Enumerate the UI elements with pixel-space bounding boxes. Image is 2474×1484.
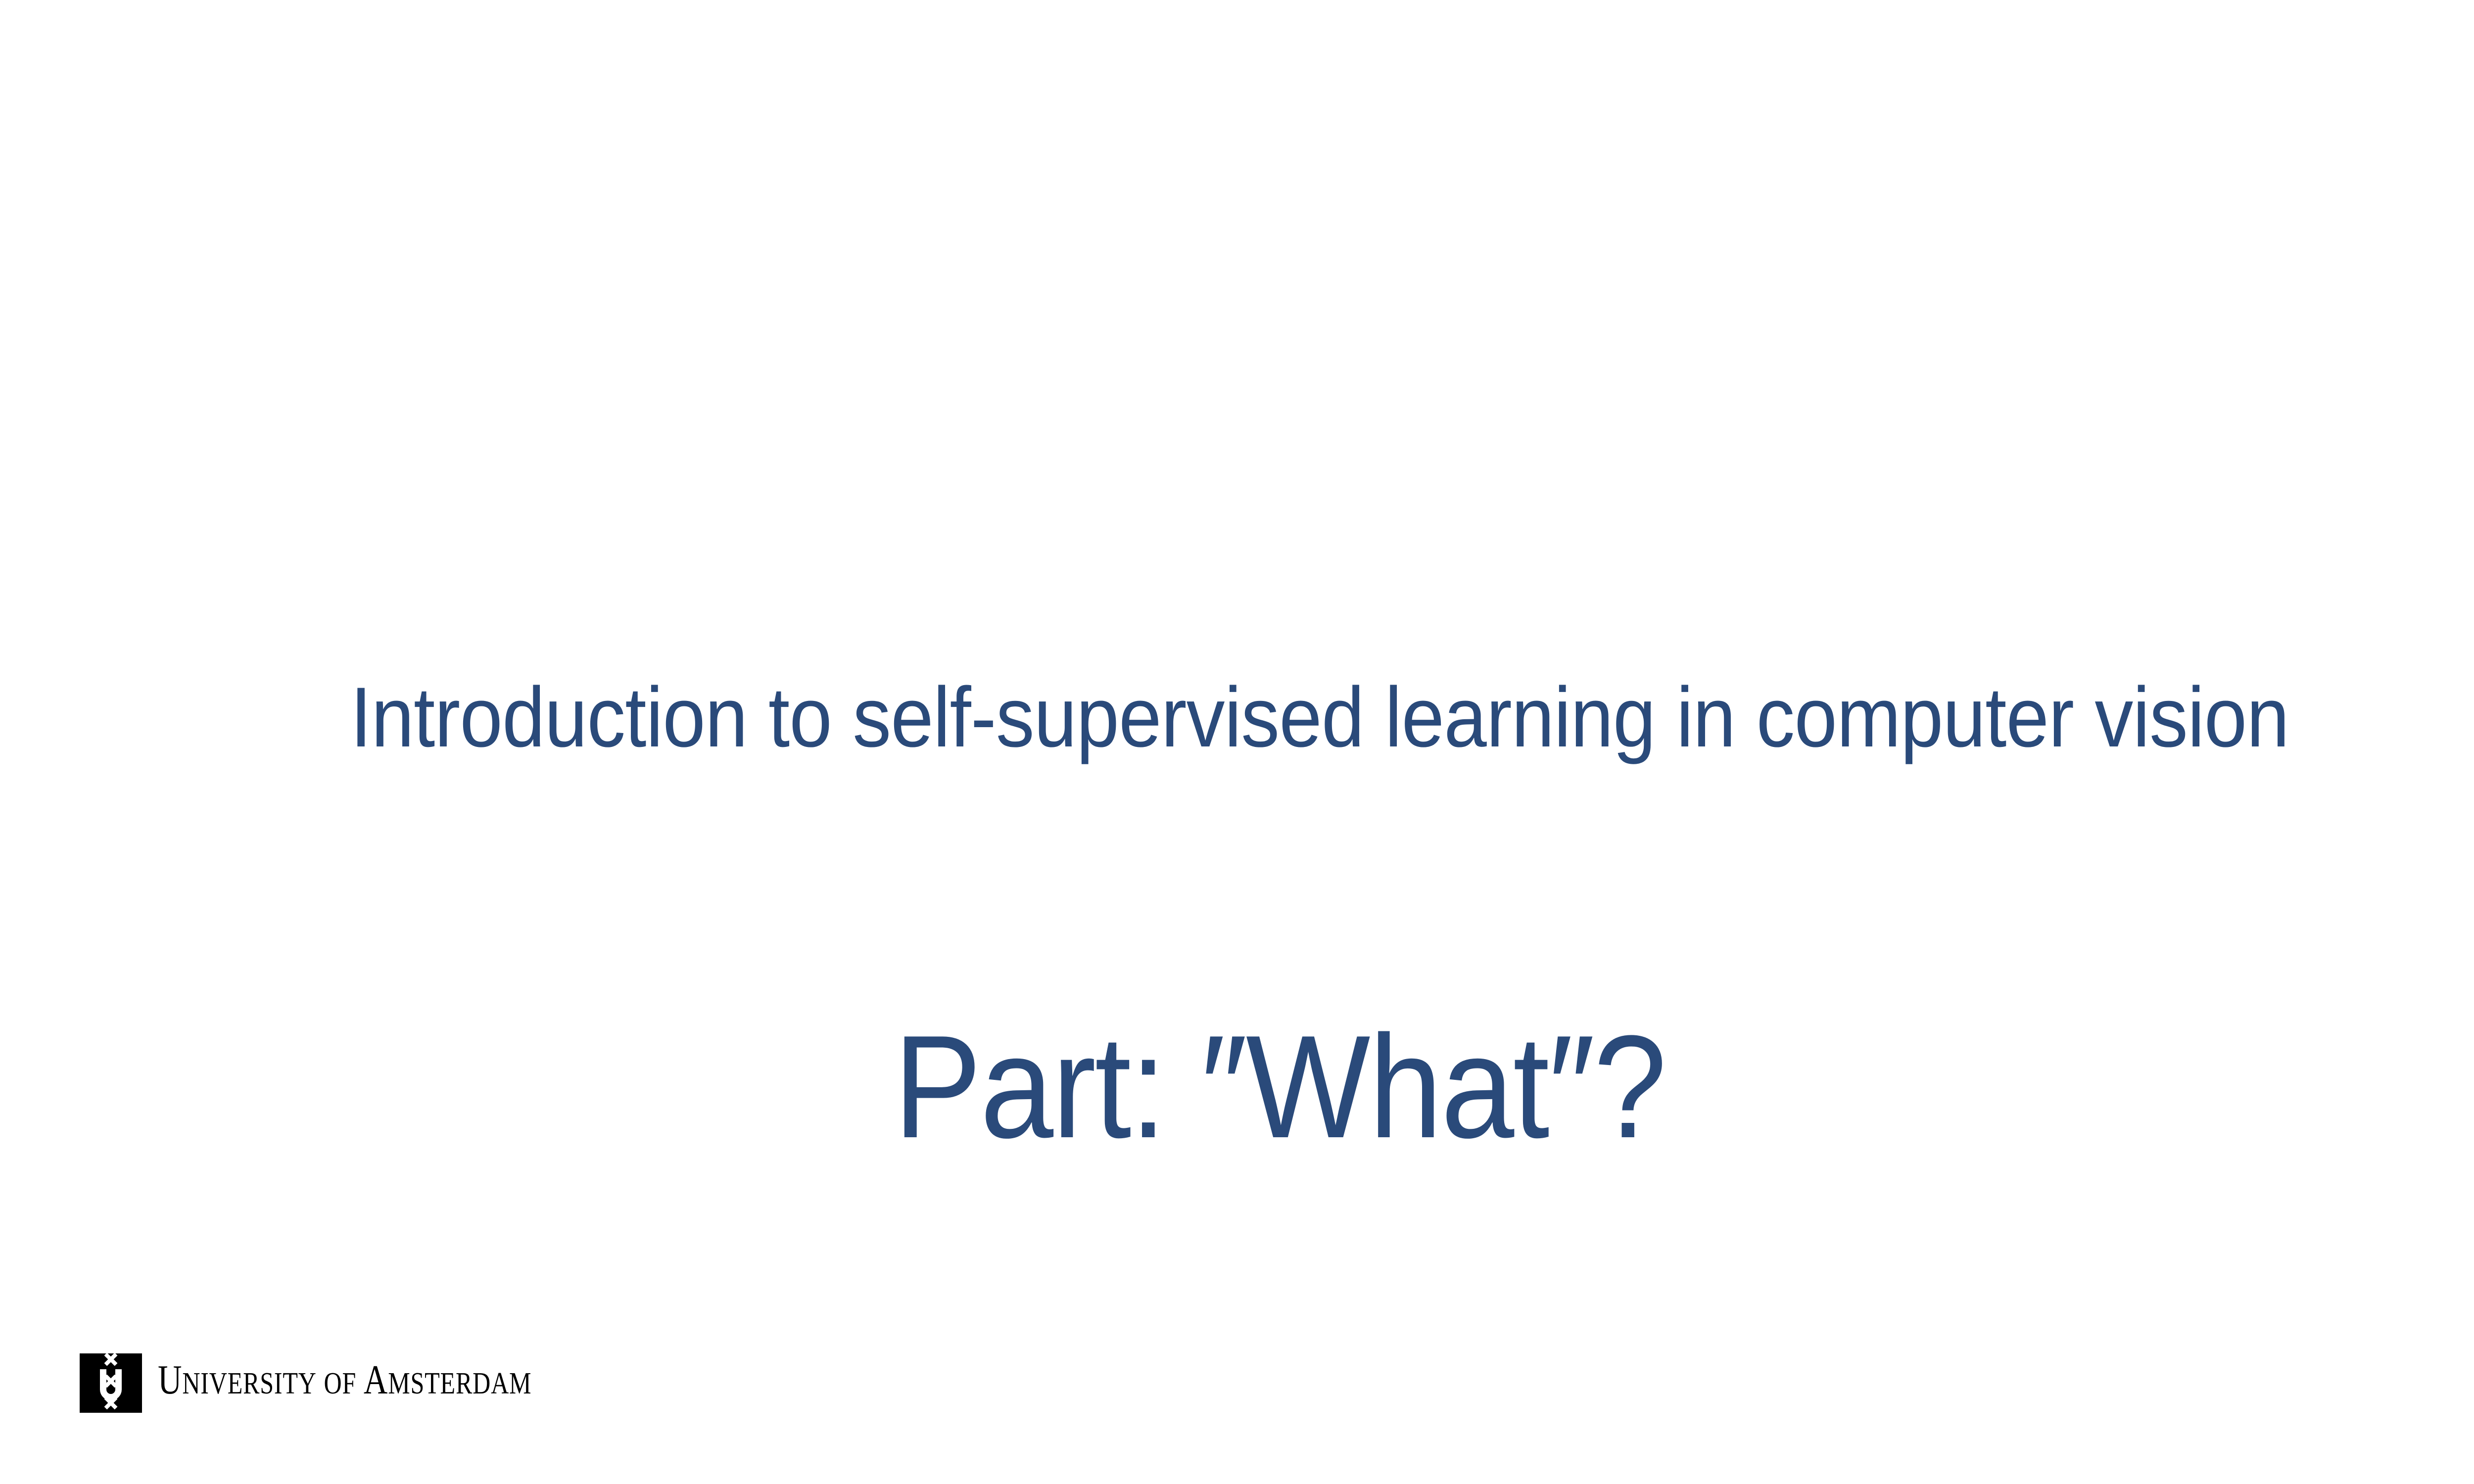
wordmark-u-cap: U	[158, 1357, 182, 1403]
university-logo-lockup: UNIVERSITYOFAMSTERDAM	[80, 1353, 625, 1413]
slide-subtitle: Introduction to self-supervised learning…	[125, 669, 2474, 766]
wordmark-of: OF	[324, 1366, 357, 1400]
presentation-slide: Introduction to self-supervised learning…	[0, 0, 2474, 1484]
wordmark-msterdam: MSTERDAM	[388, 1366, 531, 1400]
wordmark-niversity: NIVERSITY	[182, 1366, 316, 1400]
wordmark-a-cap: A	[364, 1357, 388, 1403]
slide-title: Part: ″What″?	[92, 1009, 2468, 1164]
university-wordmark: UNIVERSITYOFAMSTERDAM	[158, 1359, 531, 1401]
uva-coat-of-arms-icon	[80, 1353, 142, 1413]
